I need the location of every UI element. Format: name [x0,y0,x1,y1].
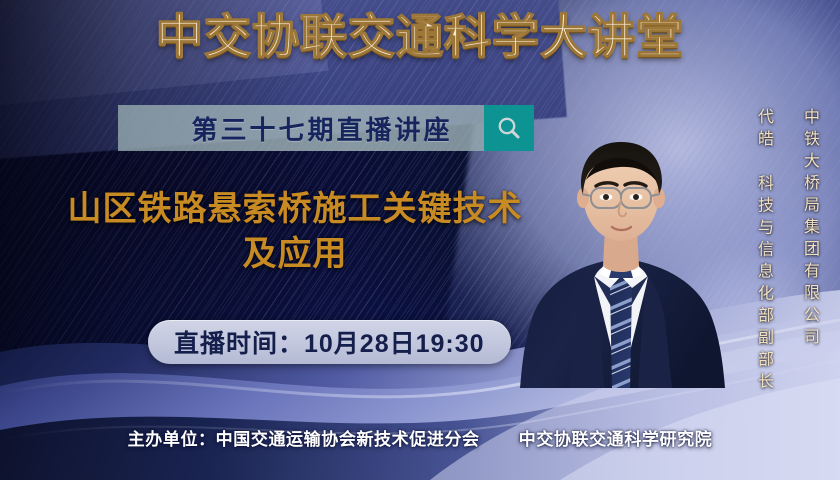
organizer-footer: 主办单位：中国交通运输协会新技术促进分会 中交协联交通科学研究院 [0,425,840,450]
speaker-name-and-title: 代皓 科技与信息化部副部长 [756,108,772,366]
topic-title: 山区铁路悬索桥施工关键技术 及应用 [30,187,560,277]
speaker-organization: 中铁大桥局集团有限公司 [802,108,818,358]
topic-title-line-2: 及应用 [30,232,560,277]
series-label: 第三十七期直播讲座 [164,110,484,147]
webinar-poster: 中交协联交通科学大讲堂 第三十七期直播讲座 山区铁路悬索桥施工关键技术 及应用 … [0,0,840,480]
page-title: 中交协联交通科学大讲堂 [0,14,840,61]
broadcast-time-badge: 直播时间：10月28日19:30 [148,320,511,364]
speaker-portrait [520,88,725,388]
series-banner: 第三十七期直播讲座 [118,105,534,151]
topic-title-line-1: 山区铁路悬索桥施工关键技术 [68,189,523,229]
organizer-secondary: 中交协联交通科学研究院 [519,430,713,450]
organizer-primary: 主办单位：中国交通运输协会新技术促进分会 [128,430,480,450]
